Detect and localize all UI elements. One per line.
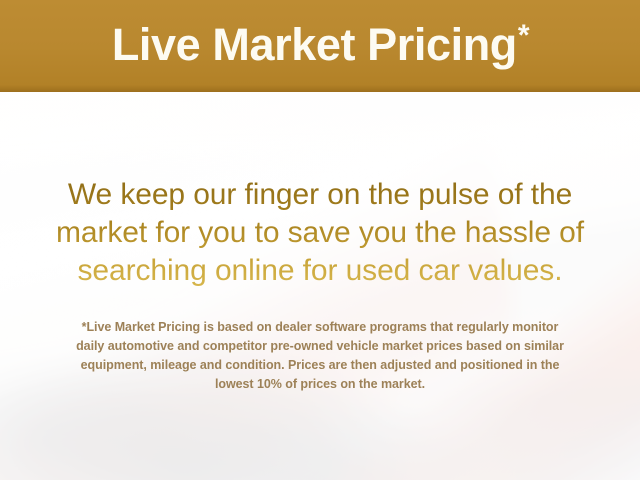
disclaimer-line-3: equipment, mileage and condition. Prices… bbox=[0, 356, 640, 375]
title-asterisk: * bbox=[518, 19, 529, 52]
disclaimer: *Live Market Pricing is based on dealer … bbox=[0, 318, 640, 394]
live-market-pricing-banner: Live Market Pricing* We keep our finger … bbox=[0, 0, 640, 480]
headline-line-1: We keep our finger on the pulse of the bbox=[0, 176, 640, 214]
disclaimer-line-2: daily automotive and competitor pre-owne… bbox=[0, 337, 640, 356]
header-band: Live Market Pricing* bbox=[0, 0, 640, 92]
page-title-text: Live Market Pricing bbox=[112, 19, 517, 70]
page-title: Live Market Pricing* bbox=[112, 22, 528, 67]
headline-line-3: searching online for used car values. bbox=[0, 252, 640, 290]
headline: We keep our finger on the pulse of the m… bbox=[0, 176, 640, 290]
disclaimer-line-4: lowest 10% of prices on the market. bbox=[0, 375, 640, 394]
disclaimer-line-1: *Live Market Pricing is based on dealer … bbox=[0, 318, 640, 337]
headline-line-2: market for you to save you the hassle of bbox=[0, 214, 640, 252]
